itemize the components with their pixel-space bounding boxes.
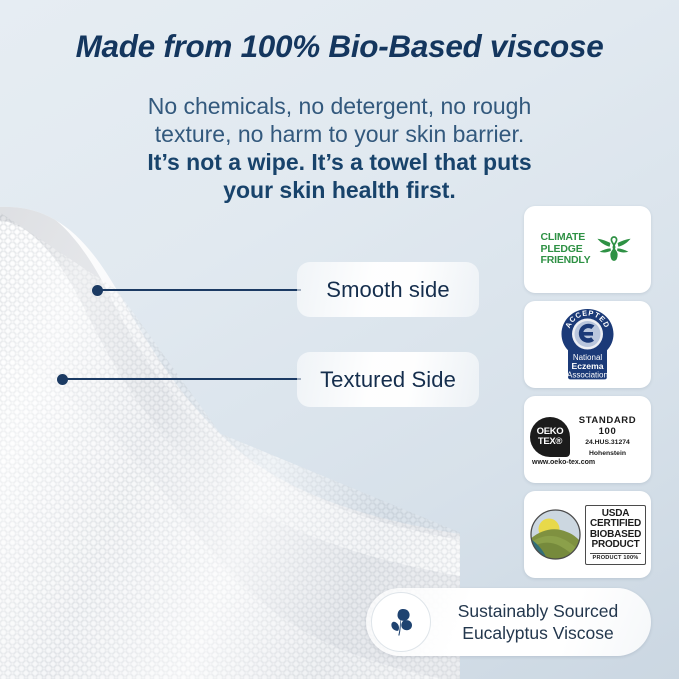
oeko-tex-mark-icon: OEKO TEX® <box>530 417 570 457</box>
eucalyptus-banner-text: Sustainably Sourced Eucalyptus Viscose <box>431 600 651 644</box>
oeko-tex-mark-line-1: OEKO <box>537 427 564 437</box>
callout-smooth-side-label: Smooth side <box>326 277 449 303</box>
oeko-tex-url: www.oeko-tex.com <box>530 459 645 466</box>
subheadline-line-4: your skin health first. <box>0 176 679 204</box>
smooth-side-leader-line <box>97 289 301 291</box>
usda-subtext: PRODUCT 100% <box>590 553 641 561</box>
climate-pledge-text: CLIMATE PLEDGE FRIENDLY <box>541 232 591 267</box>
usda-line-2: CERTIFIED <box>590 519 641 530</box>
eucalyptus-banner[interactable]: Sustainably Sourced Eucalyptus Viscose <box>366 588 651 656</box>
oeko-tex-standard-label: STANDARD <box>570 415 645 426</box>
eucalyptus-banner-line-1: Sustainably Sourced <box>431 600 645 622</box>
callout-textured-side[interactable]: Textured Side <box>297 352 479 407</box>
badge-climate-pledge-friendly[interactable]: CLIMATE PLEDGE FRIENDLY <box>524 206 651 293</box>
eucalyptus-icon-circle <box>371 592 431 652</box>
textured-side-leader-line <box>62 378 301 380</box>
winged-hourglass-icon <box>594 232 634 268</box>
product-infographic: Made from 100% Bio-Based viscose No chem… <box>0 0 679 679</box>
badge-usda-certified-biobased[interactable]: USDA CERTIFIED BIOBASED PRODUCT PRODUCT … <box>524 491 651 578</box>
eucalyptus-leaf-icon <box>383 604 419 640</box>
usda-biobased-logo-icon <box>529 508 582 561</box>
eucalyptus-banner-line-2: Eucalyptus Viscose <box>431 622 645 644</box>
climate-pledge-line-3: FRIENDLY <box>541 255 591 267</box>
oeko-tex-mark-line-2: TEX® <box>538 437 562 447</box>
callout-textured-side-label: Textured Side <box>320 367 456 393</box>
svg-text:Association: Association <box>567 370 608 379</box>
eczema-seal-icon: ACCEPTED National Eczema Association <box>556 307 619 383</box>
oeko-tex-certificate-number: 24.HUS.31274 <box>570 439 645 448</box>
subheadline-line-3: It’s not a wipe. It’s a towel that puts <box>0 148 679 176</box>
oeko-tex-institute: Hohenstein <box>570 450 645 459</box>
oeko-tex-standard-number: 100 <box>570 426 645 437</box>
headline: Made from 100% Bio-Based viscose <box>0 28 679 65</box>
svg-text:Eczema: Eczema <box>571 361 603 371</box>
badge-oeko-tex-standard-100[interactable]: OEKO TEX® STANDARD 100 24.HUS.31274 Hohe… <box>524 396 651 483</box>
certification-badge-stack: CLIMATE PLEDGE FRIENDLY <box>524 206 651 586</box>
callout-smooth-side[interactable]: Smooth side <box>297 262 479 317</box>
subheadline-line-2: texture, no harm to your skin barrier. <box>0 120 679 148</box>
usda-line-4: PRODUCT <box>590 540 641 551</box>
subheadline: No chemicals, no detergent, no rough tex… <box>0 92 679 204</box>
subheadline-line-1: No chemicals, no detergent, no rough <box>0 92 679 120</box>
badge-national-eczema-association[interactable]: ACCEPTED National Eczema Association <box>524 301 651 388</box>
